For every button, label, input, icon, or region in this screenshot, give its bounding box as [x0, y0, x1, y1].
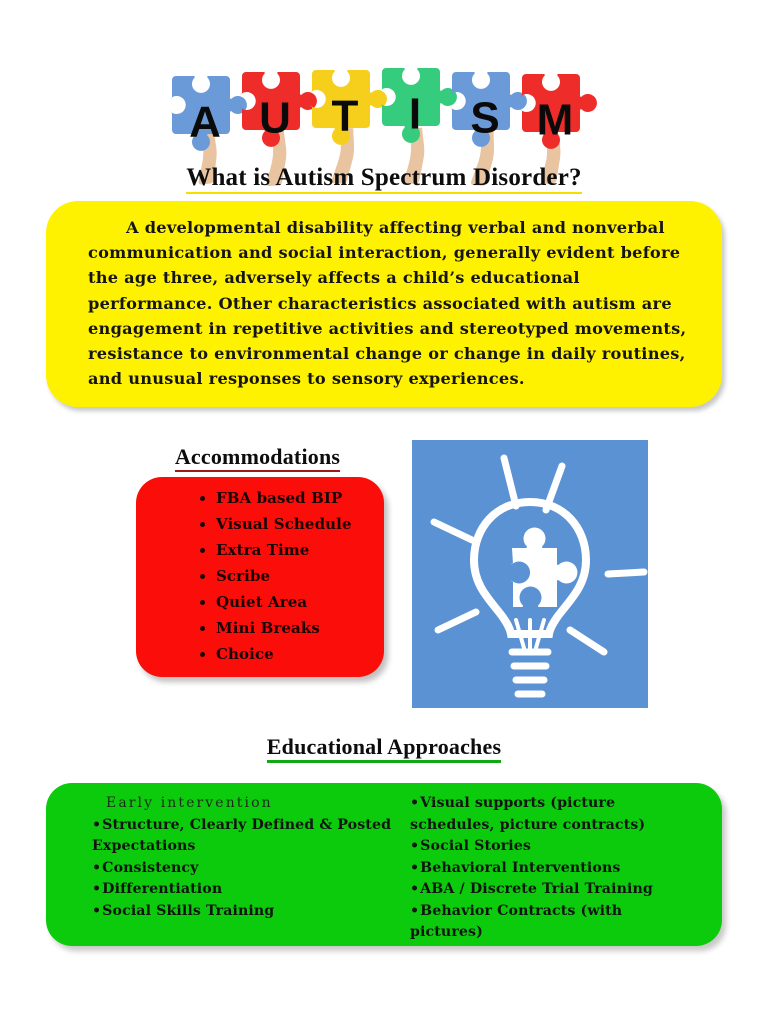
- accommodations-heading-text: Accommodations: [175, 444, 340, 472]
- list-item: Visual supports (picture schedules, pict…: [410, 793, 700, 836]
- autism-puzzle-logo: A U T I S M: [168, 66, 600, 176]
- list-item: FBA based BIP: [216, 485, 384, 511]
- list-item: Choice: [216, 641, 384, 667]
- definition-panel: A developmental disability affecting ver…: [46, 201, 722, 407]
- list-item: Quiet Area: [216, 589, 384, 615]
- list-item: Scribe: [216, 563, 384, 589]
- puzzle-letter-u-label: U: [259, 94, 291, 143]
- list-item: Visual Schedule: [216, 511, 384, 537]
- list-item: Behavioral Interventions: [410, 858, 700, 880]
- educational-approaches-heading-text: Educational Approaches: [267, 734, 501, 763]
- lightbulb-image-panel: [412, 440, 648, 708]
- puzzle-piece-i: I: [380, 68, 457, 143]
- definition-text: A developmental disability affecting ver…: [88, 215, 696, 391]
- accommodations-panel: FBA based BIP Visual Schedule Extra Time…: [136, 477, 384, 677]
- page-title-text: What is Autism Spectrum Disorder?: [186, 164, 581, 194]
- puzzle-piece-u: U: [240, 72, 317, 147]
- list-item: Differentiation: [92, 879, 410, 901]
- list-item: Early intervention: [92, 793, 410, 815]
- approaches-left-column: Early intervention Structure, Clearly De…: [92, 793, 410, 938]
- list-item: Social Stories: [410, 836, 700, 858]
- approaches-right-column: Visual supports (picture schedules, pict…: [410, 793, 700, 938]
- list-item: Consistency: [92, 858, 410, 880]
- puzzle-piece-s: S: [450, 72, 527, 147]
- list-item: Extra Time: [216, 537, 384, 563]
- approaches-right-list: Visual supports (picture schedules, pict…: [410, 793, 700, 944]
- accommodations-list: FBA based BIP Visual Schedule Extra Time…: [136, 485, 384, 667]
- puzzle-piece-icon: [511, 528, 577, 607]
- puzzle-letter-i-label: I: [409, 90, 421, 139]
- list-item: Social Skills Training: [92, 901, 410, 923]
- puzzle-letter-s-label: S: [470, 94, 499, 143]
- puzzle-letter-t-label: T: [332, 92, 359, 141]
- educational-approaches-heading: Educational Approaches: [0, 734, 768, 760]
- educational-approaches-panel: Early intervention Structure, Clearly De…: [46, 783, 722, 946]
- puzzle-piece-m: M: [520, 74, 597, 149]
- list-item: Mini Breaks: [216, 615, 384, 641]
- page-title: What is Autism Spectrum Disorder?: [0, 164, 768, 192]
- puzzle-letter-a-label: A: [189, 98, 221, 147]
- puzzle-piece-t: T: [310, 70, 387, 145]
- puzzle-piece-a: A: [170, 76, 247, 151]
- approaches-left-list: Early intervention Structure, Clearly De…: [92, 793, 410, 922]
- list-item: Structure, Clearly Defined & Posted Expe…: [92, 815, 410, 858]
- list-item: Behavior Contracts (with pictures): [410, 901, 700, 944]
- puzzle-letter-m-label: M: [537, 96, 574, 145]
- list-item: ABA / Discrete Trial Training: [410, 879, 700, 901]
